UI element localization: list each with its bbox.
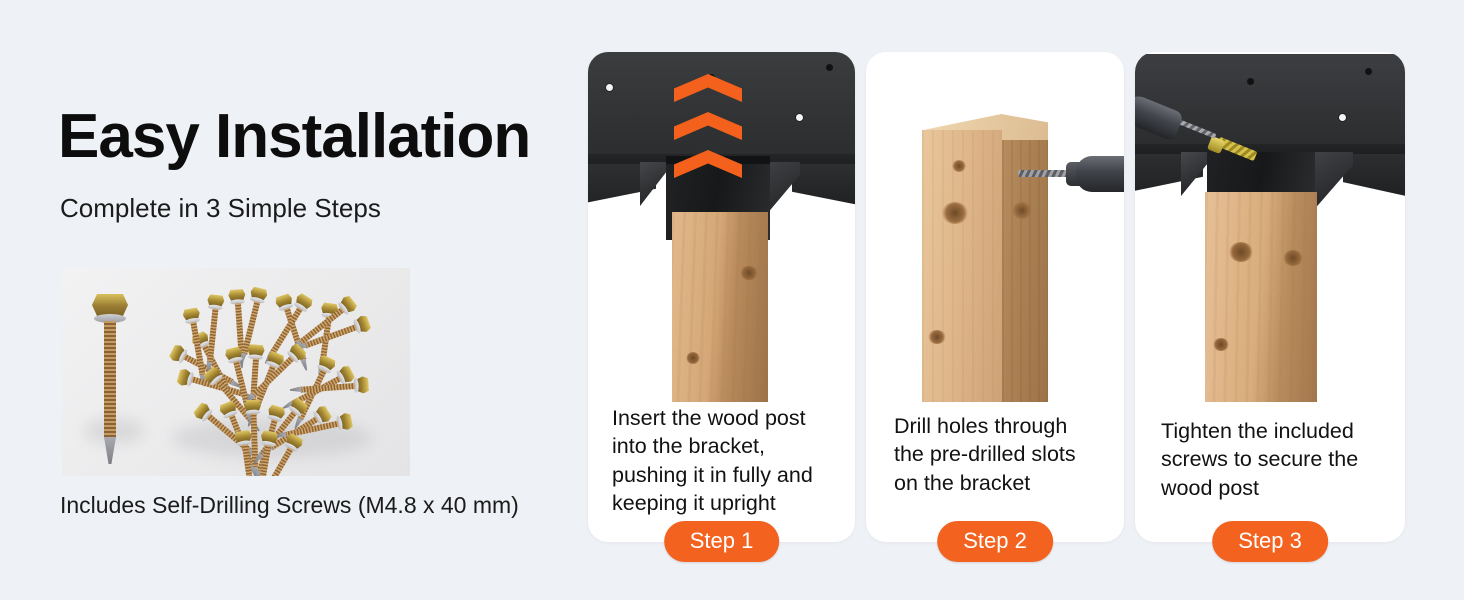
step-card-3: Tighten the included screws to secure th… [1135, 52, 1405, 542]
self-drilling-screws-photo [62, 268, 410, 476]
step-caption: Tighten the included screws to secure th… [1135, 417, 1405, 502]
page-subtitle: Complete in 3 Simple Steps [60, 193, 381, 224]
wood-post-into-bracket-photo [588, 52, 855, 402]
step-badge-1[interactable]: Step 1 [664, 521, 780, 562]
step-card-1: Insert the wood post into the bracket, p… [588, 52, 855, 542]
page-title: Easy Installation [58, 104, 530, 169]
hero-screw-graphic [92, 294, 128, 464]
screws-caption: Includes Self-Drilling Screws (M4.8 x 40… [60, 492, 519, 519]
tightening-screws-photo [1135, 52, 1405, 402]
step-badge-3[interactable]: Step 3 [1212, 521, 1328, 562]
left-panel: Easy Installation Complete in 3 Simple S… [0, 0, 580, 600]
step-card-2: Drill holes through the pre-drilled slot… [866, 52, 1124, 542]
drilling-post-photo [866, 52, 1124, 402]
step-caption: Insert the wood post into the bracket, p… [588, 404, 855, 518]
screw-pile-graphic [162, 280, 410, 476]
step-caption: Drill holes through the pre-drilled slot… [866, 412, 1124, 497]
step-badge-2[interactable]: Step 2 [937, 521, 1053, 562]
